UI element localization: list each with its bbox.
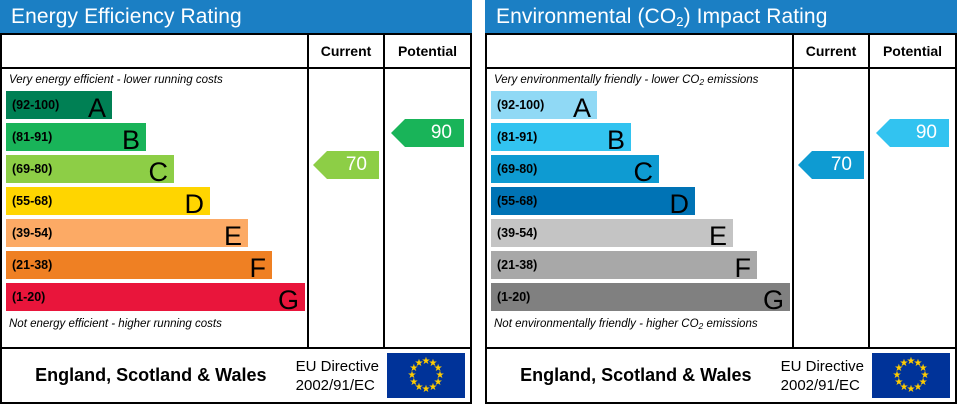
band-range-label: (81-91) xyxy=(6,130,52,144)
caption-top-text: Very energy efficient - lower running co… xyxy=(9,74,223,86)
band-range-label: (39-54) xyxy=(491,226,537,240)
band-letter-label: D xyxy=(185,189,205,219)
column-header-blank xyxy=(487,35,794,67)
band-range-label: (39-54) xyxy=(6,226,52,240)
directive-line-2: 2002/91/EC xyxy=(296,376,379,395)
rating-table: Current Potential Very energy efficient … xyxy=(0,33,472,404)
caption-top: Very energy efficient - lower running co… xyxy=(2,73,307,90)
footer-region-label: England, Scotland & Wales xyxy=(487,365,781,386)
band-letter-label: G xyxy=(278,285,299,315)
rating-band-a: (92-100)A xyxy=(491,91,597,119)
potential-column: 90 xyxy=(870,69,955,347)
rating-band-b: (81-91)B xyxy=(6,123,146,151)
caption-bottom-tail: emissions xyxy=(703,318,757,330)
column-header-blank xyxy=(2,35,309,67)
band-letter-label: B xyxy=(122,125,140,155)
current-column: 70 xyxy=(309,69,385,347)
table-body-row: Very environmentally friendly - lower CO… xyxy=(487,69,955,349)
caption-bottom: Not environmentally friendly - higher CO… xyxy=(487,315,792,332)
band-range-label: (81-91) xyxy=(491,130,537,144)
rating-band-g: (1-20)G xyxy=(491,283,790,311)
band-letter-label: F xyxy=(250,253,267,283)
current-column: 70 xyxy=(794,69,870,347)
current-rating-arrow: 70 xyxy=(313,151,379,179)
chart-title: Energy Efficiency Rating xyxy=(11,5,242,28)
band-letter-label: D xyxy=(670,189,690,219)
chart-title-tail: ) Impact Rating xyxy=(684,5,828,28)
rating-band-e: (39-54)E xyxy=(491,219,733,247)
column-header-current: Current xyxy=(309,35,385,67)
current-rating-arrow: 70 xyxy=(798,151,864,179)
environmental-impact-chart: Environmental (CO2) Impact Rating Curren… xyxy=(485,0,957,404)
caption-top-subscript: 2 xyxy=(699,77,704,87)
caption-top: Very environmentally friendly - lower CO… xyxy=(487,73,792,90)
caption-bottom: Not energy efficient - higher running co… xyxy=(2,315,307,332)
chart-title: Environmental (CO xyxy=(496,5,676,28)
band-range-label: (21-38) xyxy=(491,258,537,272)
energy-efficiency-chart: Energy Efficiency Rating Current Potenti… xyxy=(0,0,472,404)
potential-rating-arrow: 90 xyxy=(391,119,464,147)
band-range-label: (1-20) xyxy=(491,290,530,304)
column-header-potential: Potential xyxy=(870,35,955,67)
band-list: (92-100)A(81-91)B(69-80)C(55-68)D(39-54)… xyxy=(2,90,307,311)
band-range-label: (92-100) xyxy=(6,98,59,112)
band-letter-label: E xyxy=(709,221,727,251)
eu-flag-icon: ★★★★★★★★★★★★ xyxy=(872,353,950,398)
caption-bottom-text: Not environmentally friendly - higher CO xyxy=(494,318,699,330)
rating-band-b: (81-91)B xyxy=(491,123,631,151)
table-column-header-row: Current Potential xyxy=(2,35,470,69)
band-range-label: (69-80) xyxy=(491,162,537,176)
column-header-potential: Potential xyxy=(385,35,470,67)
caption-top-tail: emissions xyxy=(704,74,758,86)
rating-band-g: (1-20)G xyxy=(6,283,305,311)
eu-star-icon: ★ xyxy=(900,359,909,368)
directive-line-2: 2002/91/EC xyxy=(781,376,864,395)
band-letter-label: B xyxy=(607,125,625,155)
band-letter-label: C xyxy=(149,157,169,187)
rating-band-f: (21-38)F xyxy=(491,251,757,279)
directive-line-1: EU Directive xyxy=(296,357,379,376)
band-letter-label: G xyxy=(763,285,784,315)
bands-column: Very environmentally friendly - lower CO… xyxy=(487,69,794,347)
band-range-label: (21-38) xyxy=(6,258,52,272)
rating-band-e: (39-54)E xyxy=(6,219,248,247)
chart-footer: England, Scotland & Wales EU Directive 2… xyxy=(2,349,470,402)
band-range-label: (92-100) xyxy=(491,98,544,112)
footer-region-label: England, Scotland & Wales xyxy=(2,365,296,386)
band-letter-label: A xyxy=(88,93,106,123)
band-letter-label: E xyxy=(224,221,242,251)
caption-bottom-subscript: 2 xyxy=(699,321,704,331)
chart-title-subscript: 2 xyxy=(676,14,683,29)
band-letter-label: C xyxy=(634,157,654,187)
epc-charts-page: Energy Efficiency Rating Current Potenti… xyxy=(0,0,957,404)
rating-table: Current Potential Very environmentally f… xyxy=(485,33,957,404)
rating-band-c: (69-80)C xyxy=(6,155,174,183)
directive-line-1: EU Directive xyxy=(781,357,864,376)
caption-top-text: Very environmentally friendly - lower CO xyxy=(494,74,699,86)
rating-band-d: (55-68)D xyxy=(6,187,210,215)
rating-band-f: (21-38)F xyxy=(6,251,272,279)
band-letter-label: A xyxy=(573,93,591,123)
potential-rating-arrow: 90 xyxy=(876,119,949,147)
caption-bottom-text: Not energy efficient - higher running co… xyxy=(9,318,222,330)
band-range-label: (55-68) xyxy=(6,194,52,208)
band-range-label: (1-20) xyxy=(6,290,45,304)
chart-title-bar: Environmental (CO2) Impact Rating xyxy=(485,0,957,33)
chart-footer: England, Scotland & Wales EU Directive 2… xyxy=(487,349,955,402)
bands-column: Very energy efficient - lower running co… xyxy=(2,69,309,347)
footer-directive: EU Directive 2002/91/EC xyxy=(781,357,872,395)
potential-column: 90 xyxy=(385,69,470,347)
rating-band-c: (69-80)C xyxy=(491,155,659,183)
chart-title-bar: Energy Efficiency Rating xyxy=(0,0,472,33)
rating-band-d: (55-68)D xyxy=(491,187,695,215)
band-range-label: (55-68) xyxy=(491,194,537,208)
table-body-row: Very energy efficient - lower running co… xyxy=(2,69,470,349)
table-column-header-row: Current Potential xyxy=(487,35,955,69)
column-header-current: Current xyxy=(794,35,870,67)
band-list: (92-100)A(81-91)B(69-80)C(55-68)D(39-54)… xyxy=(487,90,792,311)
band-letter-label: F xyxy=(735,253,752,283)
band-range-label: (69-80) xyxy=(6,162,52,176)
rating-band-a: (92-100)A xyxy=(6,91,112,119)
footer-directive: EU Directive 2002/91/EC xyxy=(296,357,387,395)
eu-star-icon: ★ xyxy=(415,359,424,368)
eu-flag-icon: ★★★★★★★★★★★★ xyxy=(387,353,465,398)
